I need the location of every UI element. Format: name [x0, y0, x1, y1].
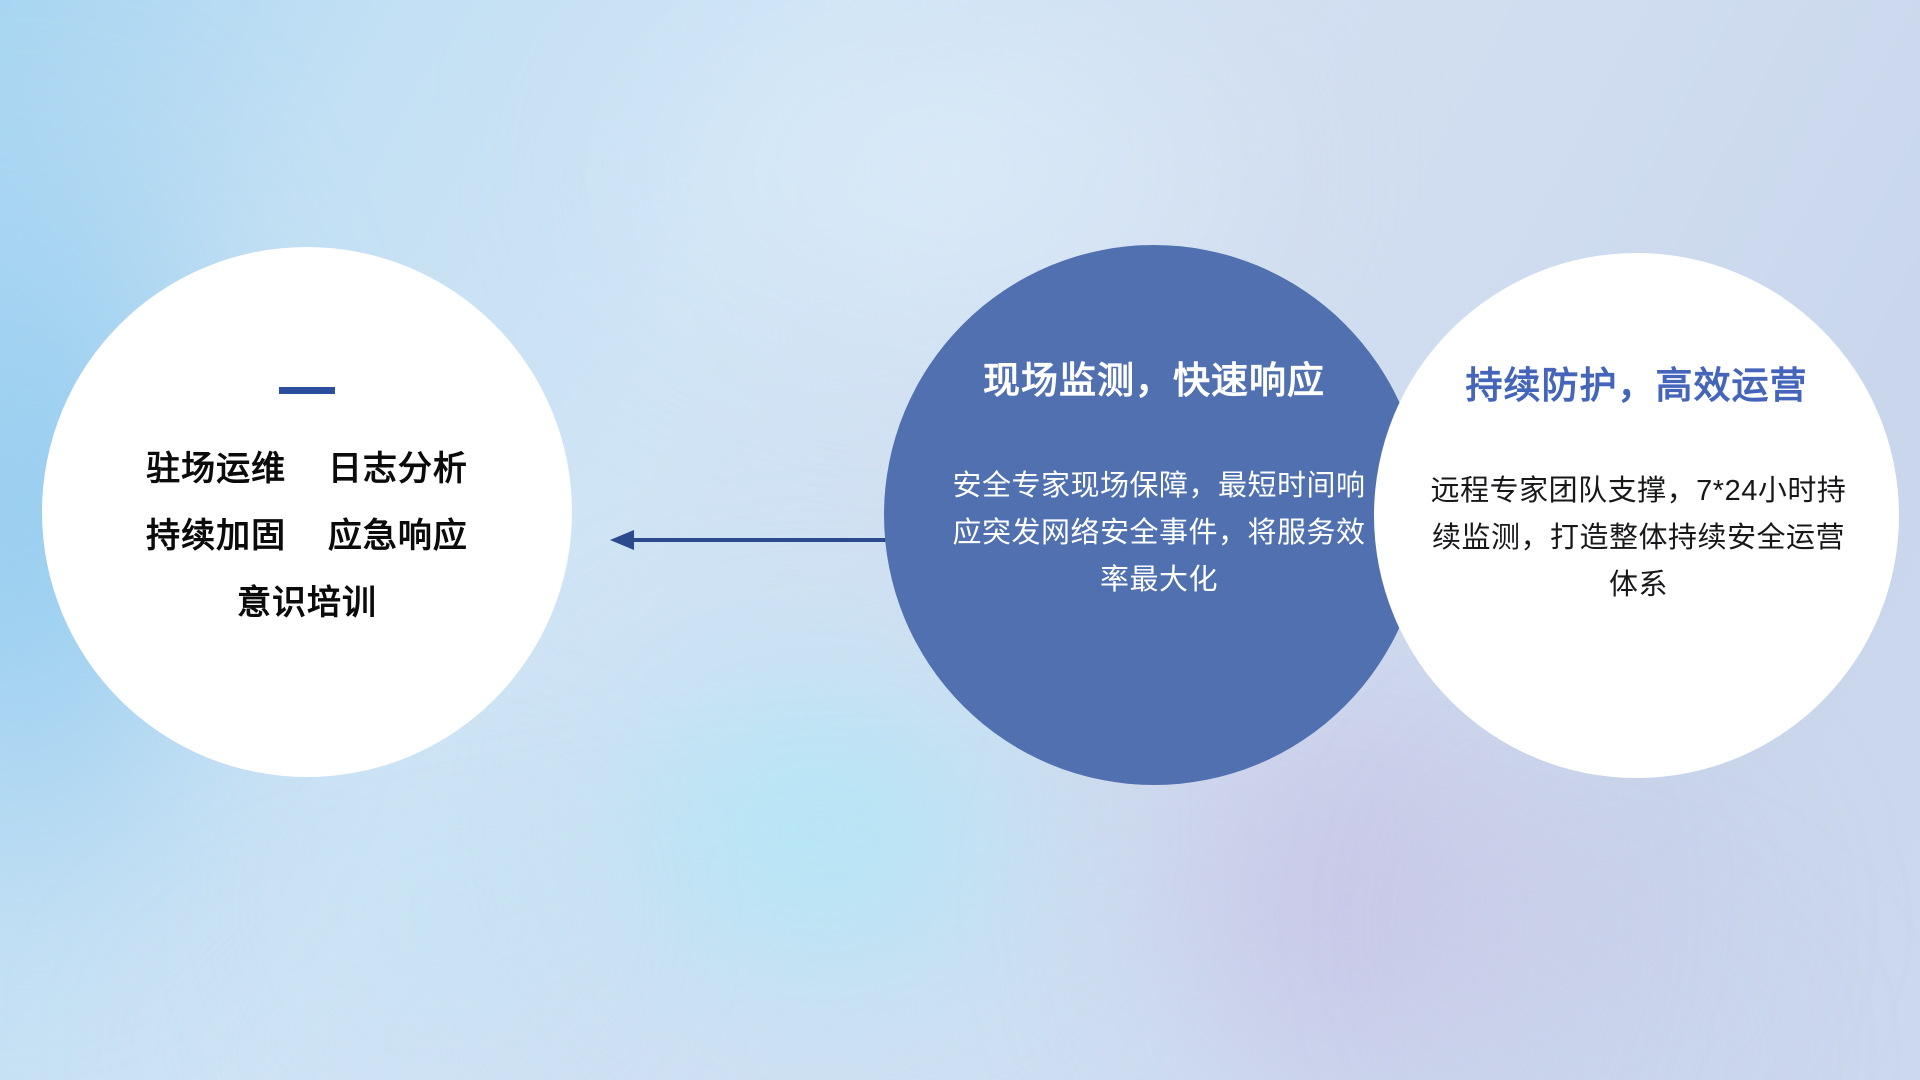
left-circle-line-1: 驻场运维 日志分析 [146, 452, 468, 486]
background-glow-violet-secondary [1430, 760, 1760, 1080]
left-circle-node: 驻场运维 日志分析 持续加固 应急响应 意识培训 [42, 247, 572, 777]
left-circle-content: 驻场运维 日志分析 持续加固 应急响应 意识培训 [42, 247, 572, 777]
background-glow-cyan-secondary [300, 790, 600, 1030]
arrow-left-icon [608, 527, 898, 553]
center-circle-content: 现场监测，快速响应 安全专家现场保障，最短时间响应突发网络安全事件，将服务效率最… [884, 245, 1424, 785]
right-circle-node: 持续防护，高效运营 远程专家团队支撑，7*24小时持续监测，打造整体持续安全运营… [1374, 253, 1899, 778]
divider-dash [279, 387, 335, 394]
background-glow-bottom [120, 840, 1820, 1080]
right-circle-title: 持续防护，高效运营 [1374, 355, 1899, 409]
right-circle-body: 远程专家团队支撑，7*24小时持续监测，打造整体持续安全运营体系 [1420, 468, 1857, 609]
left-circle-line-2: 持续加固 应急响应 [146, 519, 468, 553]
center-circle-node: 现场监测，快速响应 安全专家现场保障，最短时间响应突发网络安全事件，将服务效率最… [884, 245, 1424, 785]
right-circle-content: 持续防护，高效运营 远程专家团队支撑，7*24小时持续监测，打造整体持续安全运营… [1374, 253, 1899, 778]
center-circle-body: 安全专家现场保障，最短时间响应突发网络安全事件，将服务效率最大化 [942, 463, 1376, 604]
arrow-connector [608, 527, 898, 553]
center-circle-title: 现场监测，快速响应 [884, 350, 1424, 404]
left-circle-line-3: 意识培训 [237, 586, 377, 620]
slide-canvas: 驻场运维 日志分析 持续加固 应急响应 意识培训 现场监测，快速响应 安全专家现… [0, 0, 1920, 1080]
